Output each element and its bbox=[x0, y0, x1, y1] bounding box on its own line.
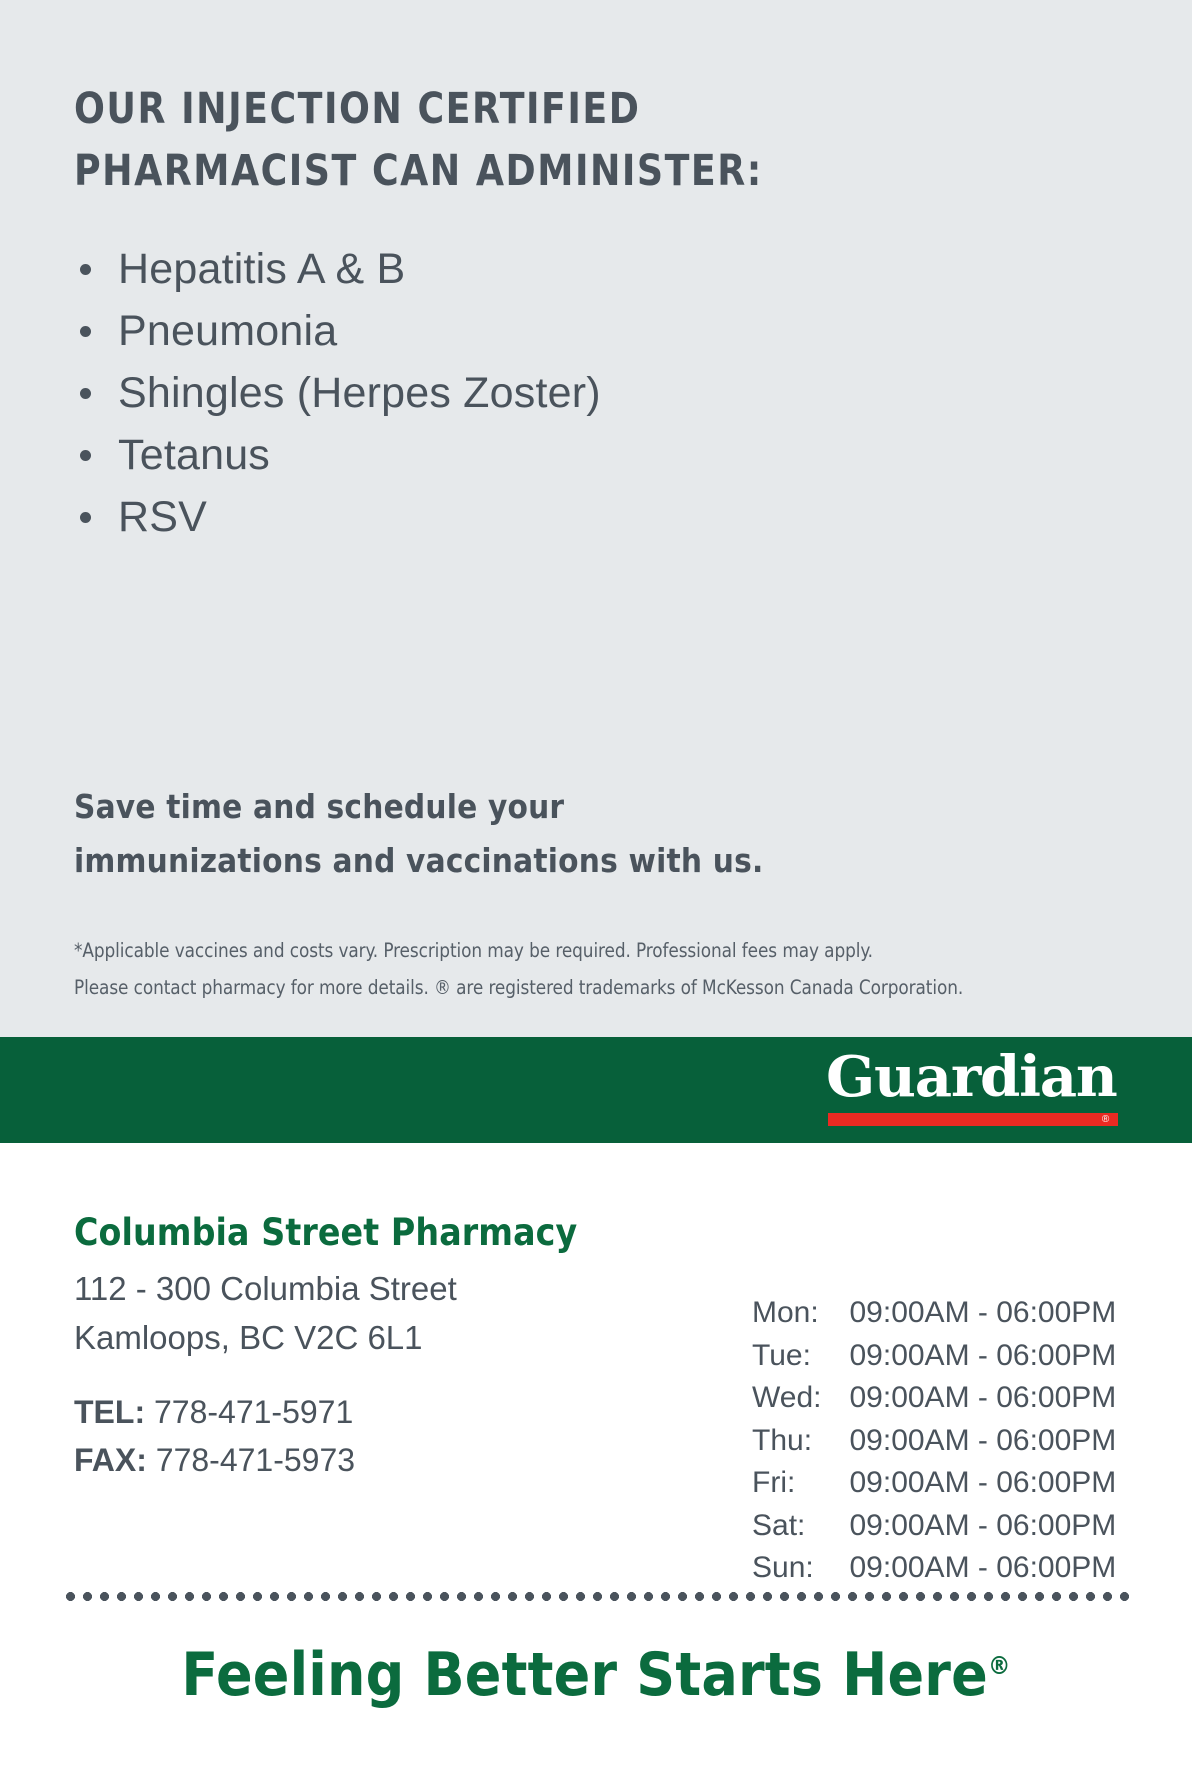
tagline-text: Feeling Better Starts Here bbox=[181, 1640, 988, 1710]
pharmacy-flyer: OUR INJECTION CERTIFIED PHARMACIST CAN A… bbox=[0, 0, 1192, 1785]
hours-day: Fri: bbox=[752, 1462, 849, 1505]
table-row: Tue: 09:00AM - 06:00PM bbox=[752, 1335, 1116, 1378]
vaccine-label: RSV bbox=[118, 493, 207, 541]
bullet-icon bbox=[80, 388, 91, 399]
list-item: Pneumonia bbox=[74, 300, 601, 362]
bullet-icon bbox=[80, 512, 91, 523]
telephone-row: TEL: 778-471-5971 bbox=[74, 1388, 694, 1436]
registered-trademark-icon: ® bbox=[1099, 1113, 1112, 1126]
fax-label: FAX: bbox=[74, 1442, 147, 1478]
vaccine-label: Hepatitis A & B bbox=[118, 245, 405, 293]
table-row: Wed: 09:00AM - 06:00PM bbox=[752, 1377, 1116, 1420]
store-hours-table: Mon: 09:00AM - 06:00PM Tue: 09:00AM - 06… bbox=[752, 1292, 1116, 1590]
vaccine-list: Hepatitis A & B Pneumonia Shingles (Herp… bbox=[74, 238, 601, 548]
vaccine-label: Tetanus bbox=[118, 431, 270, 479]
vaccine-label: Shingles (Herpes Zoster) bbox=[118, 369, 601, 417]
hours-time: 09:00AM - 06:00PM bbox=[849, 1292, 1116, 1335]
table-row: Fri: 09:00AM - 06:00PM bbox=[752, 1462, 1116, 1505]
hours-time: 09:00AM - 06:00PM bbox=[849, 1335, 1116, 1378]
list-item: Shingles (Herpes Zoster) bbox=[74, 362, 601, 424]
guardian-wordmark: Guardian bbox=[826, 1047, 1127, 1107]
hours-day: Mon: bbox=[752, 1292, 849, 1335]
hours-time: 09:00AM - 06:00PM bbox=[849, 1377, 1116, 1420]
fax-value: 778-471-5973 bbox=[156, 1442, 355, 1478]
brand-tagline: Feeling Better Starts Here® bbox=[0, 1636, 1192, 1714]
list-item: RSV bbox=[74, 486, 601, 548]
pharmacy-details: Columbia Street Pharmacy 112 - 300 Colum… bbox=[74, 1208, 694, 1484]
hours-day: Sat: bbox=[752, 1505, 849, 1548]
brand-band: Guardian ® bbox=[0, 1037, 1192, 1143]
pharmacy-contact: TEL: 778-471-5971 FAX: 778-471-5973 bbox=[74, 1388, 694, 1484]
hours-time: 09:00AM - 06:00PM bbox=[849, 1505, 1116, 1548]
hours-time: 09:00AM - 06:00PM bbox=[849, 1420, 1116, 1463]
bullet-icon bbox=[80, 450, 91, 461]
hours-day: Wed: bbox=[752, 1377, 849, 1420]
list-item: Hepatitis A & B bbox=[74, 238, 601, 300]
hours-time: 09:00AM - 06:00PM bbox=[849, 1547, 1116, 1590]
logo-underline-bar bbox=[828, 1113, 1118, 1126]
call-to-action-text: Save time and schedule your immunization… bbox=[74, 780, 894, 888]
telephone-label: TEL: bbox=[74, 1394, 145, 1430]
fax-row: FAX: 778-471-5973 bbox=[74, 1436, 694, 1484]
hours-day: Thu: bbox=[752, 1420, 849, 1463]
pharmacy-address: 112 - 300 Columbia Street Kamloops, BC V… bbox=[74, 1264, 694, 1362]
table-row: Thu: 09:00AM - 06:00PM bbox=[752, 1420, 1116, 1463]
table-row: Sun: 09:00AM - 06:00PM bbox=[752, 1547, 1116, 1590]
vaccine-label: Pneumonia bbox=[118, 307, 337, 355]
guardian-logo: Guardian ® bbox=[826, 1051, 1118, 1131]
pharmacy-name: Columbia Street Pharmacy bbox=[74, 1208, 694, 1258]
hours-day: Tue: bbox=[752, 1335, 849, 1378]
hours-time: 09:00AM - 06:00PM bbox=[849, 1462, 1116, 1505]
list-item: Tetanus bbox=[74, 424, 601, 486]
bullet-icon bbox=[80, 264, 91, 275]
disclaimer-text: *Applicable vaccines and costs vary. Pre… bbox=[74, 932, 1097, 1006]
hours-day: Sun: bbox=[752, 1547, 849, 1590]
table-row: Sat: 09:00AM - 06:00PM bbox=[752, 1505, 1116, 1548]
dotted-divider bbox=[62, 1592, 1130, 1601]
page-title: OUR INJECTION CERTIFIED PHARMACIST CAN A… bbox=[74, 78, 901, 202]
bullet-icon bbox=[80, 326, 91, 337]
telephone-value[interactable]: 778-471-5971 bbox=[154, 1394, 353, 1430]
registered-trademark-icon: ® bbox=[988, 1651, 1011, 1680]
table-row: Mon: 09:00AM - 06:00PM bbox=[752, 1292, 1116, 1335]
